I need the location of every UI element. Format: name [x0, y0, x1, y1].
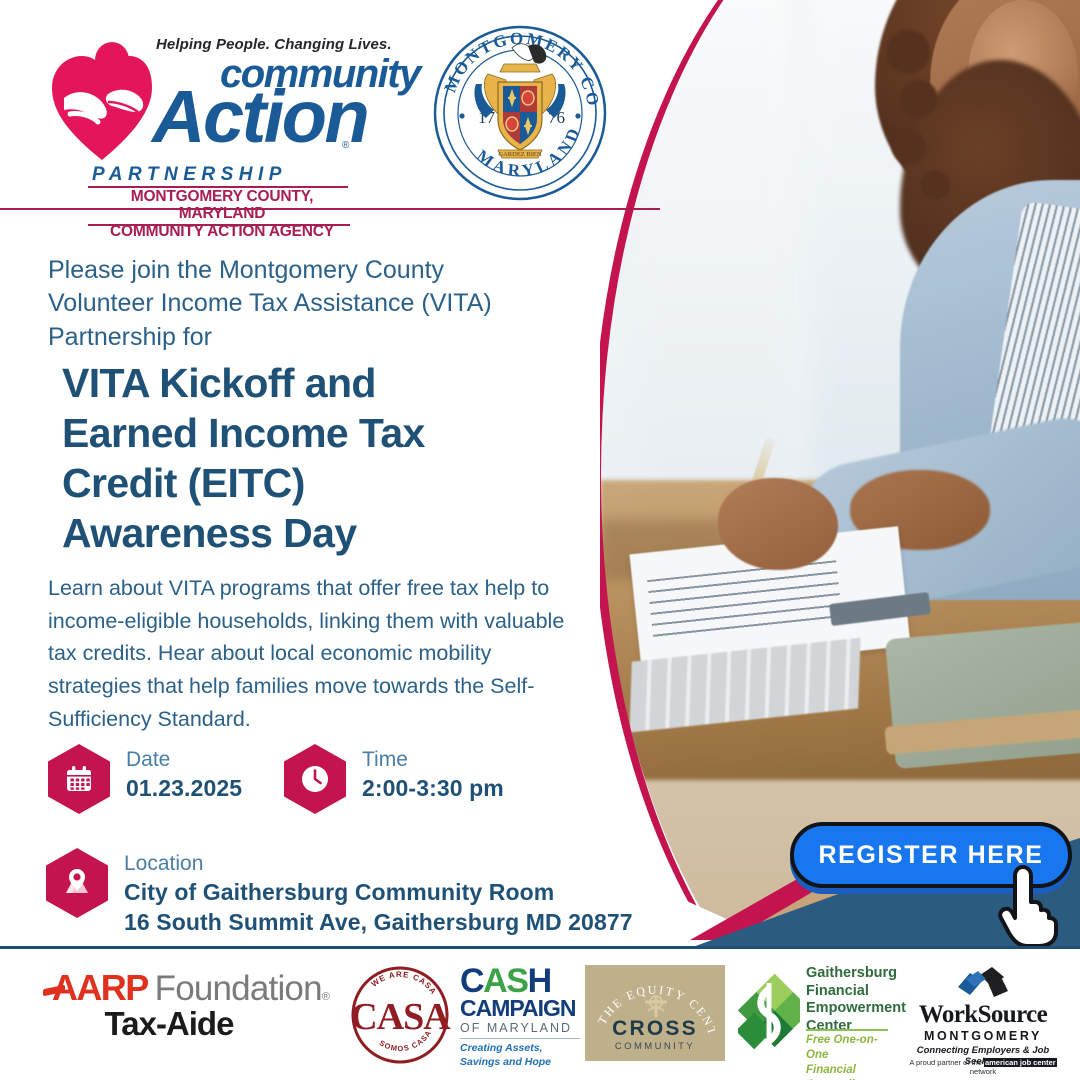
worksource-wordmark: WorkSource — [900, 1001, 1066, 1029]
gfec-line3: Empowerment — [806, 1000, 906, 1018]
gfec-sub2: Financial Counseling — [806, 1063, 888, 1080]
equity-center-cross-community-logo: THE EQUITY CENTER CROSS COMMUNITY — [585, 965, 725, 1061]
network-pre: A proud partner of the — [909, 1058, 984, 1067]
casa-logo: WE ARE CASA SOMOS CASA CASA — [348, 963, 452, 1067]
lead-paragraph: Please join the Montgomery County Volunt… — [48, 254, 518, 354]
cap-tagline: Helping People. Changing Lives. — [156, 36, 392, 53]
gfec-name: Gaithersburg Financial Empowerment Cente… — [806, 965, 906, 1036]
event-photo-panel — [600, 0, 1080, 947]
header-divider — [0, 208, 660, 210]
county-seal-icon: MONTGOMERY COUNTY MARYLAND 17 76 — [432, 24, 608, 202]
time-value: 2:00-3:30 pm — [362, 774, 504, 804]
aarp-foundation-word: Foundation — [155, 969, 322, 1009]
detail-date: Date 01.23.2025 — [48, 744, 242, 814]
description-paragraph: Learn about VITA programs that offer fre… — [48, 572, 568, 735]
time-label: Time — [362, 748, 504, 772]
network-job: job — [1019, 1058, 1032, 1067]
aarp-registered-mark: ® — [322, 991, 330, 1003]
location-value-line1: City of Gaithersburg Community Room — [124, 878, 633, 908]
cap-partnership-word: PARTNERSHIP — [92, 164, 287, 186]
vita-event-flyer: Helping People. Changing Lives. Action c… — [0, 0, 1080, 1080]
aarp-tax-aide-word: Tax-Aide — [52, 1005, 342, 1043]
cash-tagline: Creating Assets, Savings and Hope — [460, 1038, 580, 1070]
date-value: 01.23.2025 — [126, 774, 242, 804]
svg-text:CASA: CASA — [350, 996, 451, 1038]
heart-with-hands-icon — [50, 42, 154, 164]
network-american: american — [984, 1058, 1019, 1067]
gfec-line2: Financial — [806, 983, 906, 1001]
svg-text:GARDEZ BIEN: GARDEZ BIEN — [498, 151, 541, 158]
photo-arc-border — [600, 0, 1080, 947]
map-pin-icon — [46, 848, 108, 918]
calendar-icon — [48, 744, 110, 814]
location-value-line2: 16 South Summit Ave, Gaithersburg MD 208… — [124, 908, 633, 938]
worksource-network-line: A proud partner of the americanjobcenter… — [900, 1058, 1066, 1076]
worksource-county: MONTGOMERY — [900, 1029, 1066, 1043]
gfec-line1: Gaithersburg — [806, 965, 906, 983]
cross-word: CROSS — [585, 1017, 725, 1041]
detail-time: Time 2:00-3:30 pm — [284, 744, 504, 814]
aarp-wordmark: AARP — [52, 967, 148, 1009]
footer-divider — [0, 946, 1080, 949]
cash-campaign-word: CAMPAIGN — [460, 997, 580, 1020]
cash-of-maryland: OF MARYLAND — [460, 1020, 580, 1036]
community-word: COMMUNITY — [585, 1041, 725, 1052]
green-dollar-diamond-icon — [738, 967, 800, 1065]
detail-location: Location City of Gaithersburg Community … — [46, 848, 633, 938]
date-label: Date — [126, 748, 242, 772]
cash-campaign-logo: CASH CAMPAIGN OF MARYLAND Creating Asset… — [460, 965, 580, 1070]
cash-wordmark: CASH — [460, 965, 580, 997]
page-title: VITA Kickoff and Earned Income Tax Credi… — [62, 358, 522, 558]
cap-registered-mark: ® — [342, 140, 349, 151]
pointing-hand-cursor-icon — [995, 862, 1061, 948]
community-action-partnership-logo: Helping People. Changing Lives. Action c… — [48, 28, 360, 196]
cap-subtitle-line1: MONTGOMERY COUNTY, MARYLAND — [88, 188, 356, 223]
location-label: Location — [124, 852, 633, 876]
gfec-sub1: Free One-on-One — [806, 1033, 888, 1063]
cap-subtitle: MONTGOMERY COUNTY, MARYLAND COMMUNITY AC… — [88, 188, 356, 240]
interlocking-links-icon — [948, 965, 1014, 1003]
montgomery-county-seal: MONTGOMERY COUNTY MARYLAND 17 76 — [432, 24, 608, 202]
cross-emblem-icon — [641, 993, 671, 1019]
clock-icon — [284, 744, 346, 814]
gfec-tagline: Free One-on-One Financial Counseling — [806, 1033, 888, 1080]
network-post: network — [970, 1067, 996, 1076]
cap-community-word: community — [220, 54, 420, 94]
aarp-foundation-tax-aide-logo: AARP Foundation ® Tax-Aide — [52, 967, 342, 1043]
partner-logos-bar: AARP Foundation ® Tax-Aide WE ARE CASA S… — [0, 955, 1080, 1080]
network-center: center — [1032, 1058, 1057, 1067]
